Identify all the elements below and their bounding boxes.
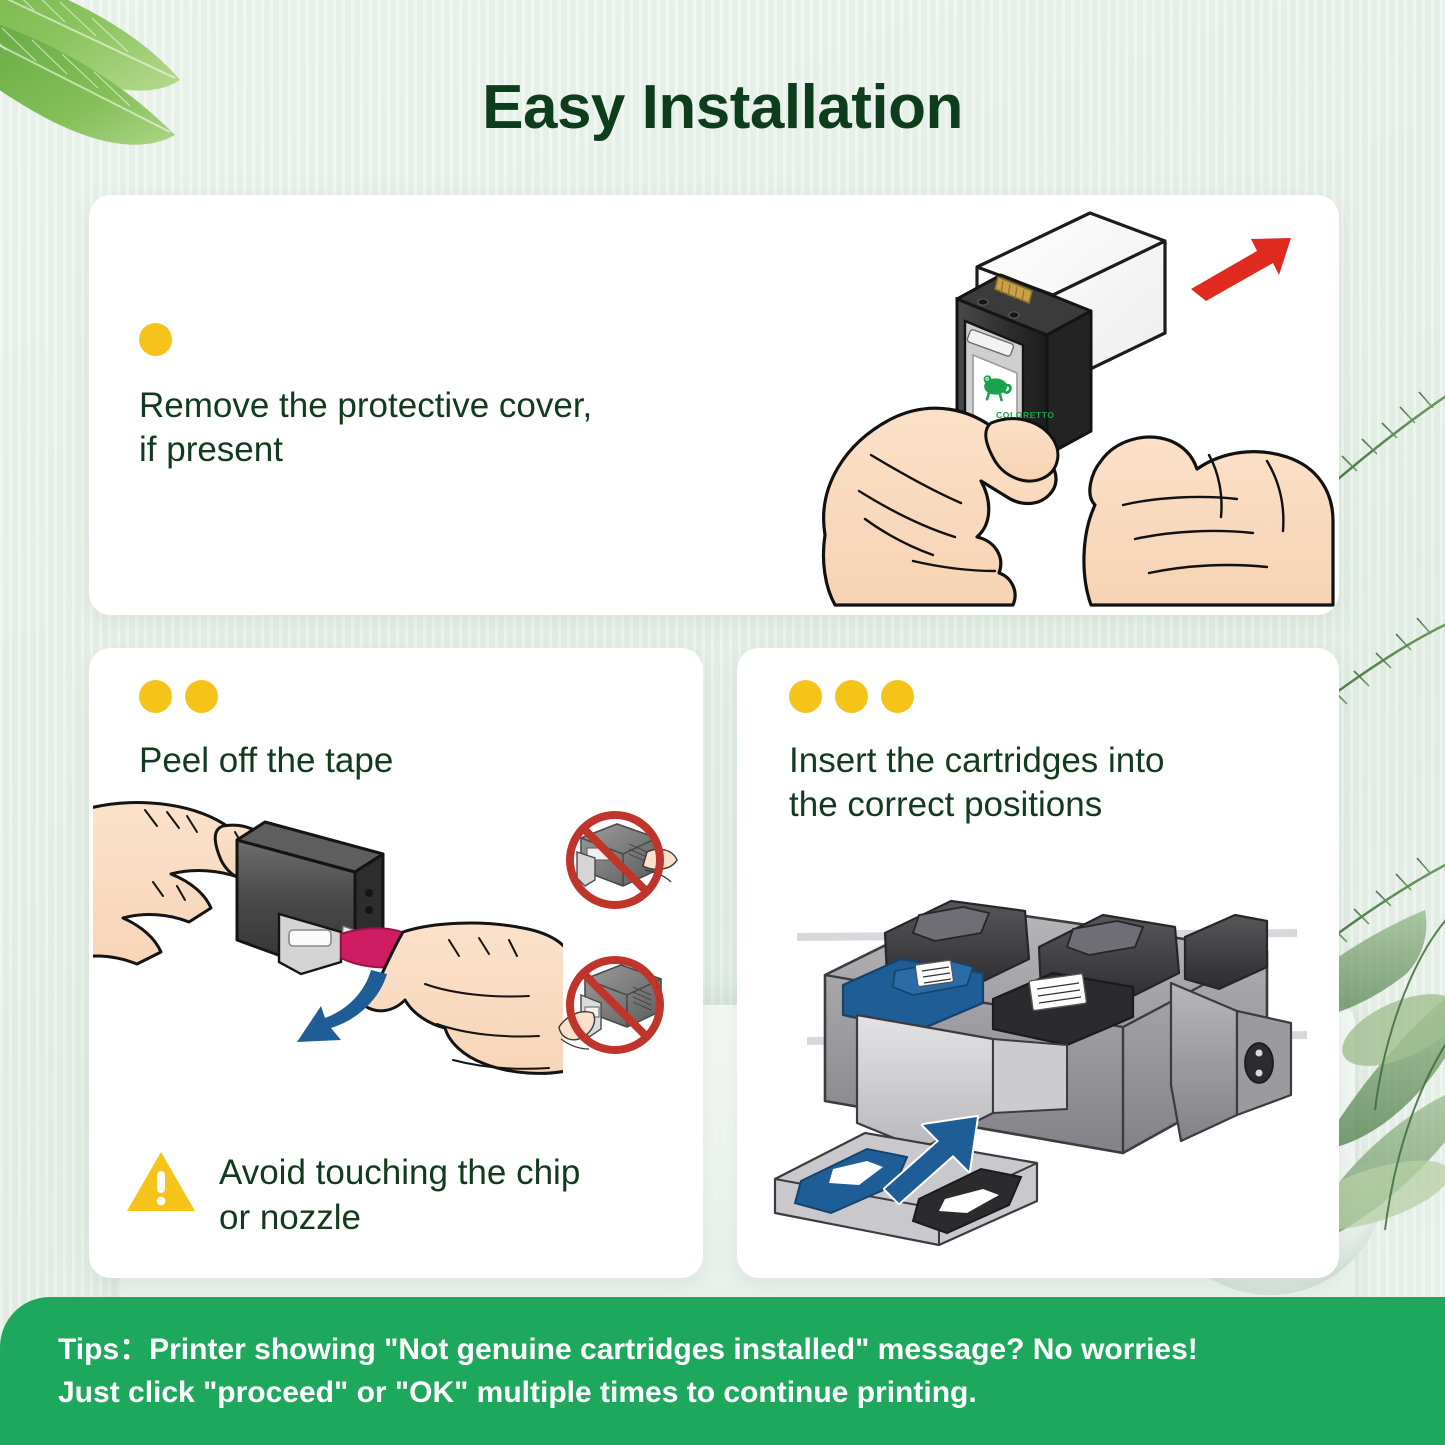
warning-triangle-icon [125, 1149, 197, 1215]
step-dot [789, 680, 822, 713]
red-arrow [1191, 238, 1291, 301]
illustration-remove-protective-cover: COLORETTO [805, 205, 1335, 610]
step-3-dots [789, 680, 1164, 713]
step-1-content: Remove the protective cover, if present [139, 323, 592, 473]
step-2-warning-label: Avoid touching the chip or nozzle [219, 1151, 580, 1240]
prohibition-icons [551, 808, 681, 1068]
step-card-3: Insert the cartridges into the correct p… [737, 648, 1339, 1278]
step-dot [185, 680, 218, 713]
step-dot [139, 680, 172, 713]
no-touch-nozzle-icon [551, 808, 679, 918]
step-1-dots [139, 323, 592, 356]
step-2-content: Peel off the tape [139, 680, 393, 783]
step-2-label: Peel off the tape [139, 739, 393, 783]
step-dot [835, 680, 868, 713]
step-2-warning: Avoid touching the chip or nozzle [125, 1149, 677, 1240]
step-card-1: Remove the protective cover, if present [89, 195, 1339, 615]
tips-banner: Tips：Printer showing "Not genuine cartri… [0, 1297, 1445, 1445]
step-3-label: Insert the cartridges into the correct p… [789, 739, 1164, 828]
tips-banner-text: Tips：Printer showing "Not genuine cartri… [0, 1328, 1218, 1415]
no-touch-chip-icon [551, 953, 679, 1063]
step-dot [139, 323, 172, 356]
illustration-insert-cartridges [767, 863, 1312, 1253]
step-card-2: Peel off the tape [89, 648, 703, 1278]
illustration-peel-off-tape [93, 798, 563, 1078]
step-2-dots [139, 680, 393, 713]
step-3-content: Insert the cartridges into the correct p… [789, 680, 1164, 828]
step-1-label: Remove the protective cover, if present [139, 384, 592, 473]
page-title: Easy Installation [0, 72, 1445, 143]
step-dot [881, 680, 914, 713]
